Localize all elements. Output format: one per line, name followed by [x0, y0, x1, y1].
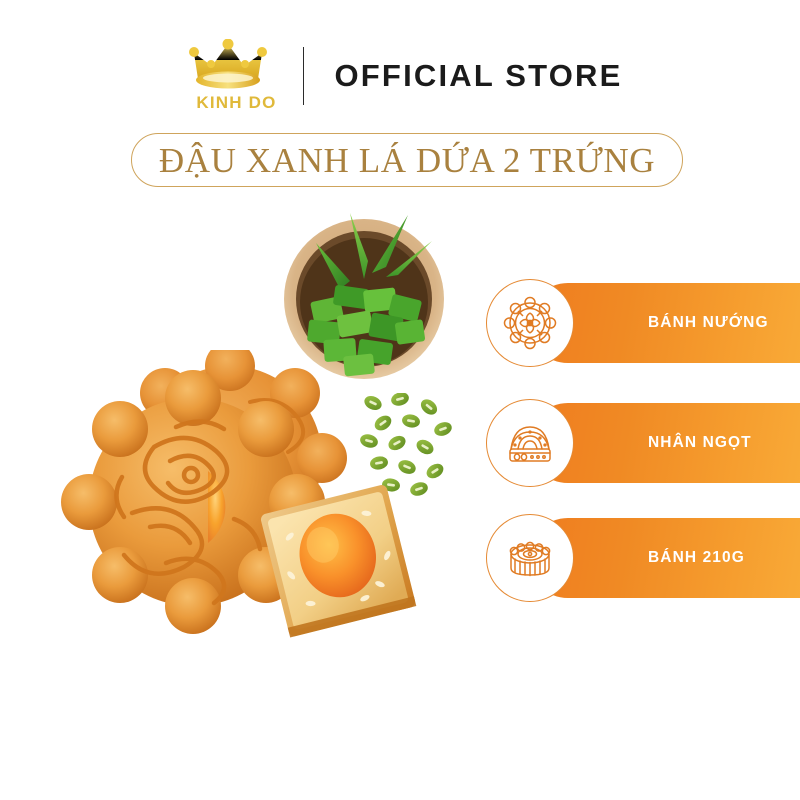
- header-divider: [303, 47, 304, 105]
- kinh-do-logo: KINH DO: [177, 39, 295, 113]
- feature-badge-label: BÁNH NƯỚNG: [648, 283, 769, 363]
- mooncake-3d-icon: [486, 514, 574, 602]
- official-store-label: OFFICIAL STORE: [334, 58, 622, 94]
- feature-badge-banh-210g[interactable]: BÁNH 210G: [528, 518, 800, 598]
- mooncake-top-icon: [486, 279, 574, 367]
- product-image-canvas: KINH DO OFFICIAL STORE ĐẬU XANH LÁ DỨA 2…: [0, 0, 800, 800]
- page-title: ĐẬU XANH LÁ DỨA 2 TRỨNG: [159, 143, 655, 178]
- product-title-banner: ĐẬU XANH LÁ DỨA 2 TRỨNG: [131, 133, 683, 187]
- product-photo: [0, 195, 520, 675]
- feature-badge-banh-nuong[interactable]: BÁNH NƯỚNG: [528, 283, 800, 363]
- feature-badge-nhan-ngot[interactable]: NHÂN NGỌT: [528, 403, 800, 483]
- brand-header: KINH DO OFFICIAL STORE: [0, 30, 800, 122]
- feature-badge-label: BÁNH 210G: [648, 518, 745, 598]
- mooncake-slice: [258, 480, 433, 665]
- mooncake-cross-section-icon: [486, 399, 574, 487]
- crown-icon: [188, 39, 284, 91]
- feature-badge-label: NHÂN NGỌT: [648, 403, 752, 483]
- brand-wordmark: KINH DO: [196, 93, 276, 113]
